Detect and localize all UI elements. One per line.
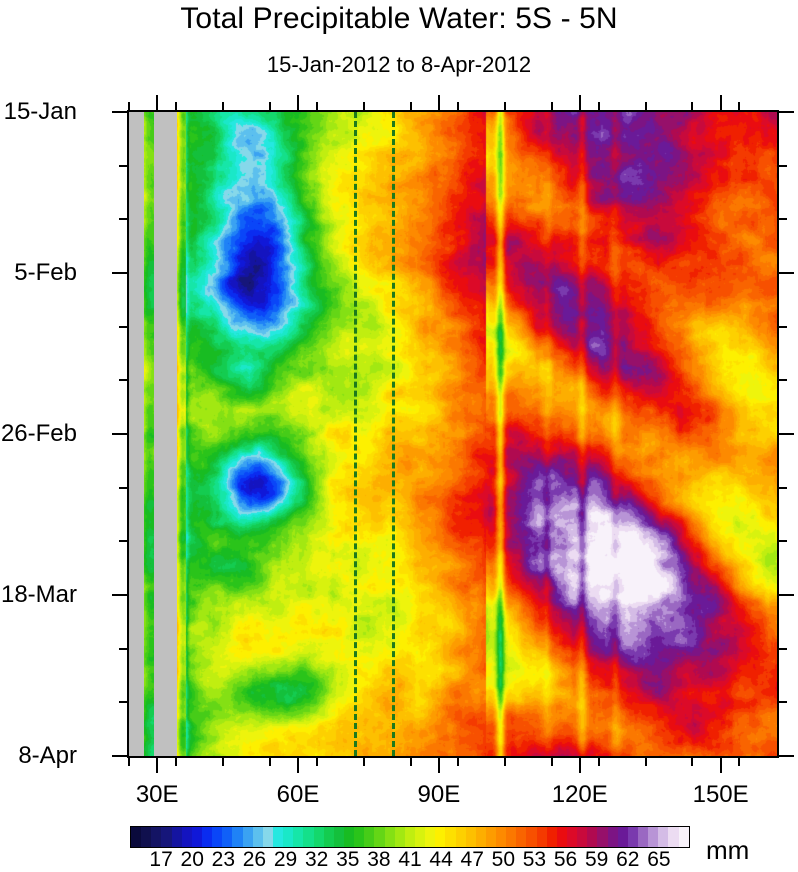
colorbar-swatch — [668, 827, 678, 847]
x-axis-minor-tick — [128, 102, 130, 110]
colorbar-swatch — [557, 827, 567, 847]
y-axis-minor-tick — [779, 540, 787, 542]
x-axis-major-tick — [579, 758, 581, 773]
colorbar-tick-35: 35 — [336, 848, 359, 871]
colorbar-tick-labels: 1720232629323538414447505356596265 — [130, 848, 690, 872]
x-axis-tick-label-120e: 120E — [540, 782, 620, 808]
x-axis-tick-label-90e: 90E — [399, 782, 479, 808]
colorbar-swatch — [456, 827, 466, 847]
x-axis-tick-label-30e: 30E — [117, 782, 197, 808]
chart-title: Total Precipitable Water: 5S - 5N — [0, 2, 798, 36]
y-axis-minor-tick — [779, 379, 787, 381]
y-axis-minor-tick — [119, 326, 127, 328]
x-axis-minor-tick — [410, 102, 412, 110]
chart-root: Total Precipitable Water: 5S - 5N 15-Jan… — [0, 0, 798, 872]
x-axis-minor-tick — [691, 758, 693, 766]
colorbar-swatch — [587, 827, 597, 847]
colorbar-swatch — [415, 827, 425, 847]
y-axis-minor-tick — [119, 165, 127, 167]
colorbar-swatch — [638, 827, 648, 847]
colorbar-tick-47: 47 — [461, 848, 484, 871]
colorbar-swatch — [567, 827, 577, 847]
colorbar-swatch — [476, 827, 486, 847]
y-axis-major-tick — [779, 755, 794, 757]
x-axis-minor-tick — [598, 758, 600, 766]
colorbar-swatch — [577, 827, 587, 847]
colorbar-swatch — [293, 827, 303, 847]
y-axis-minor-tick — [779, 326, 787, 328]
colorbar-swatch — [486, 827, 496, 847]
colorbar-swatch — [435, 827, 445, 847]
x-axis-minor-tick — [222, 758, 224, 766]
x-axis-minor-tick — [738, 102, 740, 110]
colorbar-tick-41: 41 — [398, 848, 421, 871]
colorbar-swatch — [608, 827, 618, 847]
colorbar — [130, 826, 690, 848]
x-axis-minor-tick — [551, 758, 553, 766]
reference-meridian-80e — [392, 112, 395, 756]
x-axis-minor-tick — [175, 102, 177, 110]
colorbar-swatch — [425, 827, 435, 847]
y-axis-minor-tick — [119, 540, 127, 542]
x-axis-major-tick — [438, 95, 440, 110]
colorbar-swatch — [253, 827, 263, 847]
colorbar-swatch — [496, 827, 506, 847]
colorbar-tick-53: 53 — [523, 848, 546, 871]
y-axis-tick-label-18-mar: 18-Mar — [1, 583, 77, 607]
x-axis-minor-tick — [691, 102, 693, 110]
colorbar-swatch — [202, 827, 212, 847]
x-axis-minor-tick — [598, 102, 600, 110]
colorbar-swatch — [141, 827, 151, 847]
colorbar-swatch — [395, 827, 405, 847]
colorbar-unit-label: mm — [706, 836, 749, 864]
x-axis-major-tick — [156, 758, 158, 773]
colorbar-swatch — [243, 827, 253, 847]
colorbar-swatch — [516, 827, 526, 847]
colorbar-tick-62: 62 — [616, 848, 639, 871]
colorbar-tick-50: 50 — [492, 848, 515, 871]
x-axis-minor-tick — [457, 758, 459, 766]
y-axis-minor-tick — [119, 701, 127, 703]
colorbar-swatch — [354, 827, 364, 847]
x-axis-minor-tick — [363, 102, 365, 110]
colorbar-swatch — [172, 827, 182, 847]
y-axis-major-tick — [779, 594, 794, 596]
colorbar-swatch — [232, 827, 242, 847]
colorbar-tick-32: 32 — [305, 848, 328, 871]
colorbar-tick-23: 23 — [212, 848, 235, 871]
colorbar-swatch — [385, 827, 395, 847]
y-axis-minor-tick — [779, 165, 787, 167]
colorbar-swatch — [526, 827, 536, 847]
colorbar-swatch — [679, 827, 689, 847]
colorbar-swatch — [374, 827, 384, 847]
x-axis-minor-tick — [457, 102, 459, 110]
x-axis-major-tick — [720, 758, 722, 773]
colorbar-swatch — [547, 827, 557, 847]
y-axis-minor-tick — [119, 379, 127, 381]
colorbar-tick-38: 38 — [367, 848, 390, 871]
y-axis-major-tick — [779, 433, 794, 435]
y-axis-major-tick — [112, 755, 127, 757]
y-axis-major-tick — [112, 594, 127, 596]
y-axis-minor-tick — [119, 218, 127, 220]
x-axis-major-tick — [297, 758, 299, 773]
x-axis-minor-tick — [410, 758, 412, 766]
y-axis-major-tick — [779, 272, 794, 274]
x-axis-minor-tick — [269, 758, 271, 766]
colorbar-tick-26: 26 — [243, 848, 266, 871]
colorbar-swatch — [283, 827, 293, 847]
colorbar-swatch — [405, 827, 415, 847]
colorbar-swatch — [324, 827, 334, 847]
y-axis-tick-label-15-jan: 15-Jan — [4, 100, 77, 124]
x-axis-minor-tick — [316, 758, 318, 766]
colorbar-swatch — [151, 827, 161, 847]
colorbar-swatch — [618, 827, 628, 847]
colorbar-swatch — [212, 827, 222, 847]
y-axis-minor-tick — [779, 701, 787, 703]
x-axis-major-tick — [720, 95, 722, 110]
colorbar-swatch — [334, 827, 344, 847]
colorbar-swatch — [658, 827, 668, 847]
colorbar-tick-59: 59 — [585, 848, 608, 871]
x-axis-tick-label-60e: 60E — [258, 782, 338, 808]
colorbar-swatch — [506, 827, 516, 847]
y-axis-minor-tick — [779, 218, 787, 220]
y-axis-minor-tick — [119, 648, 127, 650]
x-axis-minor-tick — [222, 102, 224, 110]
colorbar-swatch — [192, 827, 202, 847]
colorbar-swatch — [364, 827, 374, 847]
y-axis-major-tick — [112, 111, 127, 113]
colorbar-tick-17: 17 — [149, 848, 172, 871]
y-axis-tick-label-8-apr: 8-Apr — [18, 744, 77, 768]
x-axis-major-tick — [438, 758, 440, 773]
y-axis-major-tick — [112, 272, 127, 274]
colorbar-swatch — [466, 827, 476, 847]
x-axis-minor-tick — [175, 758, 177, 766]
colorbar-tick-20: 20 — [181, 848, 204, 871]
x-axis-minor-tick — [645, 758, 647, 766]
land-mask-region — [129, 112, 144, 756]
reference-meridian-72e — [354, 112, 357, 756]
x-axis-minor-tick — [504, 758, 506, 766]
heatmap-plot-area — [127, 110, 779, 758]
colorbar-swatch — [628, 827, 638, 847]
colorbar-tick-65: 65 — [647, 848, 670, 871]
y-axis-tick-label-26-feb: 26-Feb — [1, 422, 77, 446]
x-axis-minor-tick — [504, 102, 506, 110]
y-axis-tick-label-5-feb: 5-Feb — [14, 261, 77, 285]
colorbar-swatch — [344, 827, 354, 847]
colorbar-swatch — [648, 827, 658, 847]
chart-subtitle: 15-Jan-2012 to 8-Apr-2012 — [0, 52, 798, 78]
x-axis-minor-tick — [551, 102, 553, 110]
colorbar-swatch — [597, 827, 607, 847]
colorbar-swatch — [263, 827, 273, 847]
x-axis-tick-label-150e: 150E — [681, 782, 761, 808]
x-axis-minor-tick — [363, 758, 365, 766]
colorbar-swatch — [537, 827, 547, 847]
colorbar-tick-29: 29 — [274, 848, 297, 871]
heatmap-canvas — [129, 112, 777, 756]
colorbar-tick-44: 44 — [429, 848, 452, 871]
colorbar-swatch — [161, 827, 171, 847]
y-axis-major-tick — [112, 433, 127, 435]
x-axis-major-tick — [579, 95, 581, 110]
x-axis-minor-tick — [738, 758, 740, 766]
y-axis-major-tick — [779, 111, 794, 113]
y-axis-minor-tick — [779, 487, 787, 489]
x-axis-minor-tick — [128, 758, 130, 766]
y-axis-minor-tick — [779, 648, 787, 650]
x-axis-minor-tick — [645, 102, 647, 110]
x-axis-minor-tick — [269, 102, 271, 110]
colorbar-swatch — [222, 827, 232, 847]
colorbar-swatch — [182, 827, 192, 847]
land-mask-region — [154, 112, 177, 756]
colorbar-swatch — [445, 827, 455, 847]
colorbar-swatch — [273, 827, 283, 847]
colorbar-swatch — [314, 827, 324, 847]
x-axis-minor-tick — [316, 102, 318, 110]
x-axis-major-tick — [297, 95, 299, 110]
colorbar-swatch — [303, 827, 313, 847]
colorbar-tick-56: 56 — [554, 848, 577, 871]
colorbar-swatch — [131, 827, 141, 847]
x-axis-major-tick — [156, 95, 158, 110]
y-axis-minor-tick — [119, 487, 127, 489]
